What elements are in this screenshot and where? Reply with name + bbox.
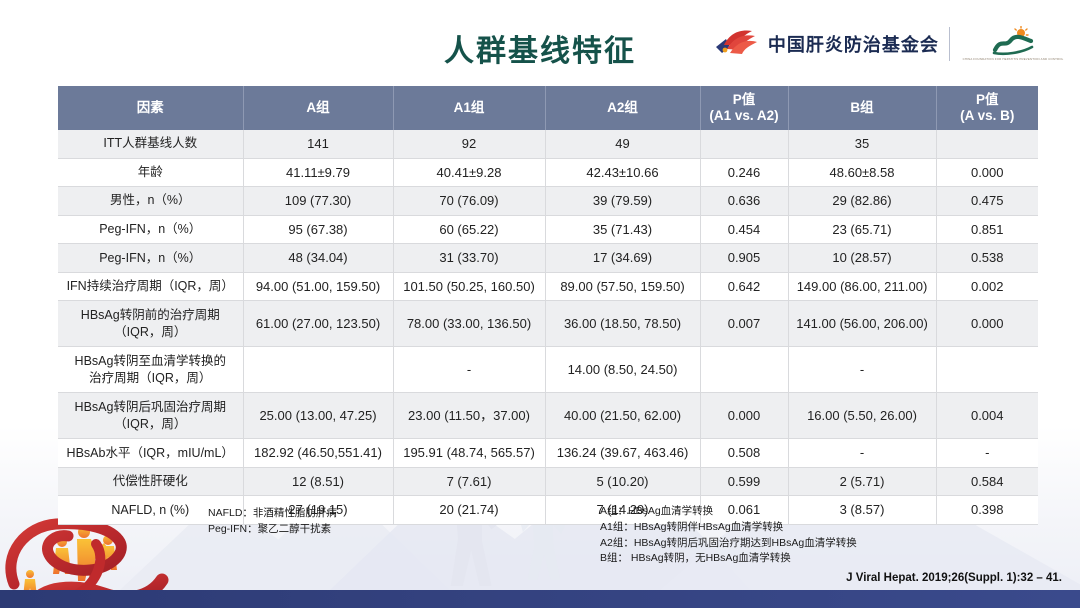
secondary-logo: CHINA FOUNDATION FOR HEPATITIS PREVENTIO…	[960, 26, 1066, 61]
cell-group-a: 12 (8.51)	[243, 467, 393, 496]
cell-pvalue-a-b: 0.000	[936, 301, 1038, 347]
cell-factor-line: （IQR，周）	[62, 416, 239, 433]
column-header-group-a-line1: A组	[247, 100, 390, 116]
cell-pvalue-a-b: 0.584	[936, 467, 1038, 496]
cell-pvalue-a1-a2: 0.642	[700, 272, 788, 301]
cell-group-a1: 40.41±9.28	[393, 158, 545, 187]
cell-group-a1: 78.00 (33.00, 136.50)	[393, 301, 545, 347]
table-row[interactable]: HBsAg转阴前的治疗周期（IQR，周）61.00 (27.00, 123.50…	[58, 301, 1038, 347]
cell-group-a: 95 (67.38)	[243, 215, 393, 244]
cell-factor: Peg-IFN，n（%）	[58, 215, 243, 244]
cell-group-a2: 40.00 (21.50, 62.00)	[545, 393, 700, 439]
column-header-group-a1-line1: A1组	[397, 100, 542, 116]
cell-group-a1: -	[393, 347, 545, 393]
column-header-pvalue-a-b-line2: (A vs. B)	[940, 108, 1036, 124]
cell-group-a: 41.11±9.79	[243, 158, 393, 187]
cell-group-b: 16.00 (5.50, 26.00)	[788, 393, 936, 439]
cell-group-a	[243, 347, 393, 393]
column-header-group-a2-line1: A2组	[549, 100, 697, 116]
cell-factor-line: 年龄	[62, 164, 239, 181]
cell-pvalue-a1-a2: 0.454	[700, 215, 788, 244]
cell-group-a1: 20 (21.74)	[393, 496, 545, 525]
column-header-group-b[interactable]: B组	[788, 86, 936, 130]
logo-divider	[949, 27, 950, 61]
slide-canvas: 人群基线特征 中国肝炎防治基金会	[0, 0, 1080, 608]
cell-group-a1: 101.50 (50.25, 160.50)	[393, 272, 545, 301]
cell-pvalue-a-b: 0.851	[936, 215, 1038, 244]
footnote-right-line-1: A组：HBsAg血清学转换	[600, 504, 857, 520]
cell-group-b: -	[788, 439, 936, 468]
cell-group-a1: 195.91 (48.74, 565.57)	[393, 439, 545, 468]
hand-ribbon-icon	[714, 27, 758, 61]
cell-pvalue-a1-a2: 0.508	[700, 439, 788, 468]
cell-factor: Peg-IFN，n（%）	[58, 244, 243, 273]
footnote-abbreviations: NAFLD：非酒精性脂肪肝病 Peg-IFN：聚乙二醇干扰素	[208, 506, 337, 538]
cell-factor-line: （IQR，周）	[62, 324, 239, 341]
footnote-left-line-1: NAFLD：非酒精性脂肪肝病	[208, 506, 337, 522]
cell-group-b: 35	[788, 130, 936, 158]
cell-factor: 年龄	[58, 158, 243, 187]
cell-factor-line: ITT人群基线人数	[62, 135, 239, 152]
cell-group-a2: 35 (71.43)	[545, 215, 700, 244]
cell-group-a2: 49	[545, 130, 700, 158]
table-row[interactable]: NAFLD, n (%)27 (19.15)20 (21.74)7 (14.29…	[58, 496, 1038, 525]
cell-group-a: 94.00 (51.00, 159.50)	[243, 272, 393, 301]
cell-pvalue-a1-a2: 0.246	[700, 158, 788, 187]
cell-factor-line: Peg-IFN，n（%）	[62, 250, 239, 267]
cell-factor: HBsAg转阴前的治疗周期（IQR，周）	[58, 301, 243, 347]
cell-factor-line: HBsAg转阴至血清学转换的	[62, 353, 239, 370]
cell-factor-line: 代偿性肝硬化	[62, 473, 239, 490]
cell-pvalue-a1-a2: 0.636	[700, 187, 788, 216]
cell-pvalue-a1-a2: 0.905	[700, 244, 788, 273]
cell-group-b: 23 (65.71)	[788, 215, 936, 244]
cell-pvalue-a-b: 0.004	[936, 393, 1038, 439]
cell-factor: 男性，n（%）	[58, 187, 243, 216]
baseline-characteristics-table-wrap: 因素 A组 A1组 A2组 P值 (A1 vs. A2)	[58, 86, 1038, 525]
table-row[interactable]: Peg-IFN，n（%）48 (34.04)31 (33.70)17 (34.6…	[58, 244, 1038, 273]
table-body: ITT人群基线人数141924935年龄41.11±9.7940.41±9.28…	[58, 130, 1038, 524]
cell-group-a: 182.92 (46.50,551.41)	[243, 439, 393, 468]
cell-group-a: 25.00 (13.00, 47.25)	[243, 393, 393, 439]
cell-group-a2: 5 (10.20)	[545, 467, 700, 496]
cell-group-a2: 14.00 (8.50, 24.50)	[545, 347, 700, 393]
cell-group-a2: 39 (79.59)	[545, 187, 700, 216]
cell-group-a1: 60 (65.22)	[393, 215, 545, 244]
cell-group-a2: 89.00 (57.50, 159.50)	[545, 272, 700, 301]
table-row[interactable]: 代偿性肝硬化12 (8.51)7 (7.61)5 (10.20)0.5992 (…	[58, 467, 1038, 496]
cell-group-b: 141.00 (56.00, 206.00)	[788, 301, 936, 347]
cell-group-b: -	[788, 347, 936, 393]
table-row[interactable]: 年龄41.11±9.7940.41±9.2842.43±10.660.24648…	[58, 158, 1038, 187]
footnote-right-line-3: A2组：HBsAg转阴后巩固治疗期达到HBsAg血清学转换	[600, 536, 857, 552]
table-row[interactable]: HBsAg转阴后巩固治疗周期（IQR，周）25.00 (13.00, 47.25…	[58, 393, 1038, 439]
cell-factor: HBsAb水平（IQR，mIU/mL）	[58, 439, 243, 468]
table-row[interactable]: ITT人群基线人数141924935	[58, 130, 1038, 158]
cell-group-a: 61.00 (27.00, 123.50)	[243, 301, 393, 347]
column-header-factor[interactable]: 因素	[58, 86, 243, 130]
column-header-group-b-line1: B组	[792, 100, 933, 116]
cell-pvalue-a-b: 0.538	[936, 244, 1038, 273]
cell-group-a: 48 (34.04)	[243, 244, 393, 273]
secondary-logo-caption: CHINA FOUNDATION FOR HEPATITIS PREVENTIO…	[963, 57, 1064, 61]
cell-factor: 代偿性肝硬化	[58, 467, 243, 496]
cell-pvalue-a1-a2: 0.007	[700, 301, 788, 347]
column-header-pvalue-a1-a2-line1: P值	[704, 92, 785, 108]
cell-factor: HBsAg转阴至血清学转换的治疗周期（IQR，周）	[58, 347, 243, 393]
column-header-pvalue-a1-a2[interactable]: P值 (A1 vs. A2)	[700, 86, 788, 130]
cell-pvalue-a-b: 0.475	[936, 187, 1038, 216]
cell-pvalue-a-b	[936, 130, 1038, 158]
slide-header: 人群基线特征 中国肝炎防治基金会	[0, 0, 1080, 86]
cell-pvalue-a1-a2	[700, 130, 788, 158]
cell-pvalue-a-b: 0.000	[936, 158, 1038, 187]
column-header-pvalue-a-b-line1: P值	[940, 92, 1036, 108]
cell-factor-line: 男性，n（%）	[62, 192, 239, 209]
table-row[interactable]: IFN持续治疗周期（IQR，周）94.00 (51.00, 159.50)101…	[58, 272, 1038, 301]
cell-pvalue-a1-a2	[700, 347, 788, 393]
cell-group-a1: 23.00 (11.50，37.00)	[393, 393, 545, 439]
cell-group-b: 2 (5.71)	[788, 467, 936, 496]
bottom-accent-bar	[0, 590, 1080, 608]
cell-factor-line: Peg-IFN，n（%）	[62, 221, 239, 238]
cell-pvalue-a-b	[936, 347, 1038, 393]
column-header-factor-line1: 因素	[61, 100, 240, 116]
table-row[interactable]: 男性，n（%）109 (77.30)70 (76.09)39 (79.59)0.…	[58, 187, 1038, 216]
cell-group-b: 149.00 (86.00, 211.00)	[788, 272, 936, 301]
cell-group-a2: 17 (34.69)	[545, 244, 700, 273]
cell-pvalue-a1-a2: 0.000	[700, 393, 788, 439]
footnote-group-definitions: A组：HBsAg血清学转换 A1组：HBsAg转阴伴HBsAg血清学转换 A2组…	[600, 504, 857, 567]
cell-pvalue-a-b: 0.002	[936, 272, 1038, 301]
green-swoosh-sun-icon	[991, 26, 1035, 56]
cell-factor-line: IFN持续治疗周期（IQR，周）	[62, 278, 239, 295]
column-header-group-a[interactable]: A组	[243, 86, 393, 130]
cell-pvalue-a1-a2: 0.599	[700, 467, 788, 496]
cell-group-b: 10 (28.57)	[788, 244, 936, 273]
brand-logo-block: 中国肝炎防治基金会 CHINA FOUNDATION FOR HEPATITIS…	[714, 26, 1066, 61]
cell-group-a: 141	[243, 130, 393, 158]
cell-pvalue-a-b: -	[936, 439, 1038, 468]
footnote-right-line-4: B组： HBsAg转阴，无HBsAg血清学转换	[600, 551, 857, 567]
cell-group-a1: 92	[393, 130, 545, 158]
cell-group-a2: 136.24 (39.67, 463.46)	[545, 439, 700, 468]
source-citation: J Viral Hepat. 2019;26(Suppl. 1):32 – 41…	[846, 572, 1062, 584]
cell-factor-line: HBsAb水平（IQR，mIU/mL）	[62, 445, 239, 462]
cell-group-b: 29 (82.86)	[788, 187, 936, 216]
cell-group-a1: 7 (7.61)	[393, 467, 545, 496]
cell-group-a2: 42.43±10.66	[545, 158, 700, 187]
cell-factor-line: HBsAg转阴前的治疗周期	[62, 307, 239, 324]
column-header-pvalue-a1-a2-line2: (A1 vs. A2)	[704, 108, 785, 124]
footnote-right-line-2: A1组：HBsAg转阴伴HBsAg血清学转换	[600, 520, 857, 536]
column-header-group-a2[interactable]: A2组	[545, 86, 700, 130]
cell-group-a: 109 (77.30)	[243, 187, 393, 216]
cell-group-a1: 31 (33.70)	[393, 244, 545, 273]
table-row[interactable]: Peg-IFN，n（%）95 (67.38)60 (65.22)35 (71.4…	[58, 215, 1038, 244]
cell-factor-line: 治疗周期（IQR，周）	[62, 370, 239, 387]
cell-factor: IFN持续治疗周期（IQR，周）	[58, 272, 243, 301]
cell-group-b: 48.60±8.58	[788, 158, 936, 187]
cell-factor-line: HBsAg转阴后巩固治疗周期	[62, 399, 239, 416]
cell-factor: HBsAg转阴后巩固治疗周期（IQR，周）	[58, 393, 243, 439]
column-header-group-a1[interactable]: A1组	[393, 86, 545, 130]
column-header-pvalue-a-b[interactable]: P值 (A vs. B)	[936, 86, 1038, 130]
table-header-row: 因素 A组 A1组 A2组 P值 (A1 vs. A2)	[58, 86, 1038, 130]
brand-logo-text: 中国肝炎防治基金会	[768, 31, 939, 57]
footnote-left-line-2: Peg-IFN：聚乙二醇干扰素	[208, 522, 337, 538]
baseline-characteristics-table: 因素 A组 A1组 A2组 P值 (A1 vs. A2)	[58, 86, 1038, 525]
cell-factor: ITT人群基线人数	[58, 130, 243, 158]
table-row[interactable]: HBsAb水平（IQR，mIU/mL）182.92 (46.50,551.41)…	[58, 439, 1038, 468]
cell-group-a2: 36.00 (18.50, 78.50)	[545, 301, 700, 347]
cell-pvalue-a-b: 0.398	[936, 496, 1038, 525]
cell-group-a1: 70 (76.09)	[393, 187, 545, 216]
table-row[interactable]: HBsAg转阴至血清学转换的治疗周期（IQR，周）-14.00 (8.50, 2…	[58, 347, 1038, 393]
